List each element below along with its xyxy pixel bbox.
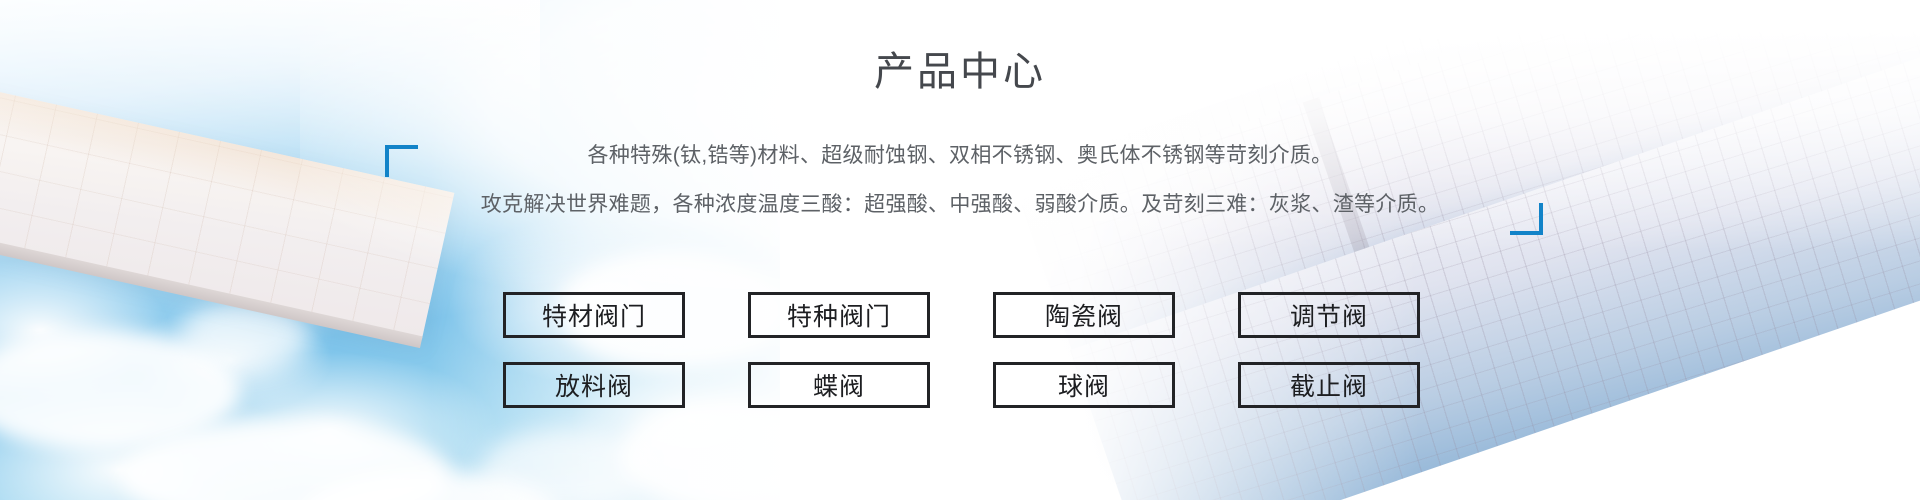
product-category-grid: 特材阀门 特种阀门 陶瓷阀 调节阀 放料阀 蝶阀 球阀 截止阀 [503, 292, 1421, 408]
category-button-special-valve[interactable]: 特种阀门 [748, 292, 930, 338]
page-title: 产品中心 [0, 48, 1920, 96]
category-button-ceramic-valve[interactable]: 陶瓷阀 [993, 292, 1175, 338]
category-button-ball-valve[interactable]: 球阀 [993, 362, 1175, 408]
description-line-1: 各种特殊(钛,锆等)材料、超级耐蚀钢、双相不锈钢、奥氏体不锈钢等苛刻介质。 [0, 140, 1920, 173]
category-button-techai-valve[interactable]: 特材阀门 [503, 292, 685, 338]
description-line-2: 攻克解决世界难题，各种浓度温度三酸：超强酸、中强酸、弱酸介质。及苛刻三难：灰浆、… [0, 189, 1920, 222]
category-button-discharge-valve[interactable]: 放料阀 [503, 362, 685, 408]
banner-content: 产品中心 各种特殊(钛,锆等)材料、超级耐蚀钢、双相不锈钢、奥氏体不锈钢等苛刻介… [0, 0, 1920, 500]
category-button-control-valve[interactable]: 调节阀 [1238, 292, 1420, 338]
description-block: 各种特殊(钛,锆等)材料、超级耐蚀钢、双相不锈钢、奥氏体不锈钢等苛刻介质。 攻克… [0, 140, 1920, 221]
product-center-banner: 产品中心 各种特殊(钛,锆等)材料、超级耐蚀钢、双相不锈钢、奥氏体不锈钢等苛刻介… [0, 0, 1920, 500]
category-button-globe-valve[interactable]: 截止阀 [1238, 362, 1420, 408]
category-button-butterfly-valve[interactable]: 蝶阀 [748, 362, 930, 408]
